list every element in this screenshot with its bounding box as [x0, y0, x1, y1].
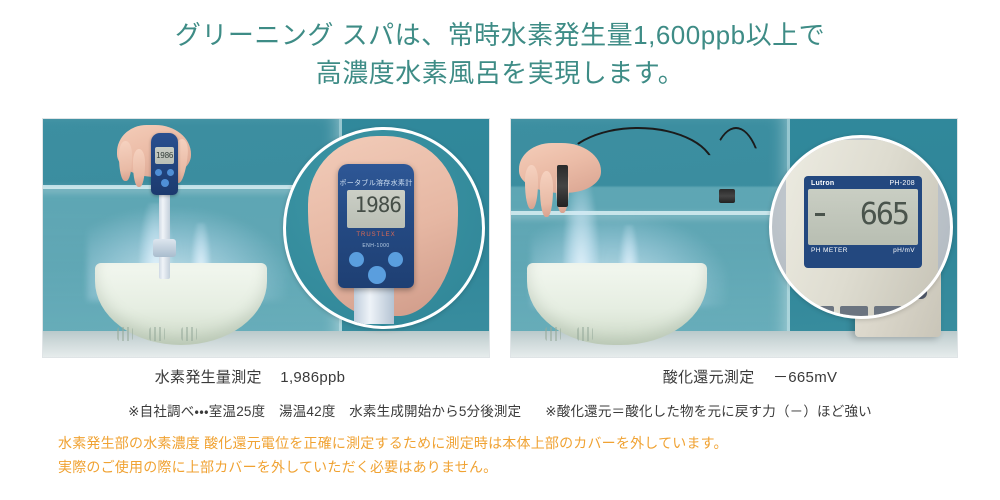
- warning-line-2: 実際のご使用の際に上部カバーを外していただく必要はありません。: [58, 456, 958, 478]
- page-headline: グリーニング スパは、常時水素発生量1,600ppb以上で 高濃度水素風呂を実現…: [0, 16, 1000, 92]
- footnote-2: ※酸化還元＝酸化した物を元に戻す力（－）ほど強い: [545, 404, 872, 419]
- meter-button-right[interactable]: [167, 169, 174, 176]
- footnotes: ※自社調べ・・・室温25度 湯温42度 水素生成開始から5分後測定 ※酸化還元＝…: [0, 400, 1000, 420]
- generator-vent-center: [149, 327, 165, 341]
- inset-ph-case: Lutron PH-208 665 PH METER pH/mV: [786, 140, 938, 316]
- inset-ph-model: PH-208: [889, 180, 915, 187]
- warning-line-1: 水素発生部の水素濃度 酸化還元電位を正確に測定するために測定時は本体上部のカバー…: [58, 432, 958, 454]
- generator-vent-left: [545, 327, 561, 341]
- inset-probe-shaft: [354, 282, 394, 324]
- probe-shaft: [159, 193, 170, 279]
- caption-orp: 酸化還元測定 －665mV: [500, 366, 1000, 387]
- finger-2: [133, 149, 145, 187]
- inset-meter-brand: TRUSTLEX: [338, 232, 414, 238]
- finger-1: [119, 141, 132, 181]
- meter-button-left[interactable]: [155, 169, 162, 176]
- inset-meter-button-left[interactable]: [349, 252, 364, 267]
- photo-panels: 1986 ポータブル溶存水素計 1986 TRUSTLEX ENH-1000: [42, 118, 958, 358]
- inset-meter-reading: 1986: [347, 195, 401, 216]
- inset-meter-button-right[interactable]: [388, 252, 403, 267]
- finger-1: [525, 165, 538, 209]
- inset-ph-screen: Lutron PH-208 665 PH METER pH/mV: [804, 176, 922, 268]
- inset-meter-lcd: 1986: [347, 190, 405, 228]
- inset-ph-screen-header: Lutron PH-208: [808, 180, 918, 189]
- generator-vent-center: [577, 327, 593, 341]
- generator-vent-right: [181, 327, 197, 341]
- caption-hydrogen-label: 水素発生量測定: [155, 369, 262, 386]
- meter-lcd-small: 1986: [155, 147, 174, 164]
- finger-2: [540, 171, 553, 217]
- inset-ph-lcd: 665: [808, 189, 918, 245]
- footnote-1: ※自社調べ・・・室温25度 湯温42度 水素生成開始から5分後測定: [128, 404, 521, 419]
- meter-button-power[interactable]: [161, 179, 169, 187]
- inset-meter-body: ポータブル溶存水素計 1986 TRUSTLEX ENH-1000: [338, 164, 414, 288]
- inset-meter-button-power[interactable]: [368, 266, 386, 284]
- inset-ph-key-2[interactable]: [840, 306, 868, 319]
- panel-orp-measurement: 665 Lutron PH-208: [510, 118, 958, 358]
- headline-line-2: 高濃度水素風呂を実現します。: [0, 54, 1000, 92]
- inset-ph-brand: Lutron: [811, 180, 834, 187]
- inset-ph-reading: 665: [808, 198, 908, 232]
- caption-hydrogen-value: 1,986ppb: [280, 369, 345, 386]
- panel-hydrogen-measurement: 1986 ポータブル溶存水素計 1986 TRUSTLEX ENH-1000: [42, 118, 490, 358]
- headline-line-1: グリーニング スパは、常時水素発生量1,600ppb以上で: [0, 16, 1000, 54]
- inset-ph-screen-footer: PH METER pH/mV: [808, 245, 918, 254]
- generator-vent-left: [117, 327, 133, 341]
- inset-meter-model: ENH-1000: [338, 243, 414, 249]
- inset-meter-label: ポータブル溶存水素計: [338, 178, 414, 188]
- dissolved-hydrogen-meter: 1986: [151, 133, 178, 195]
- inset-ph-footer-left: PH METER: [811, 247, 848, 254]
- inset-hydrogen-meter-closeup: ポータブル溶存水素計 1986 TRUSTLEX ENH-1000: [283, 127, 485, 329]
- inset-ph-meter-closeup: Lutron PH-208 665 PH METER pH/mV: [769, 135, 953, 319]
- inset-ph-footer-right: pH/mV: [893, 247, 915, 254]
- caption-orp-value: －665mV: [773, 369, 837, 386]
- caption-orp-label: 酸化還元測定: [663, 369, 755, 386]
- measurement-captions: 水素発生量測定 1,986ppb 酸化還元測定 －665mV: [0, 366, 1000, 387]
- counter-surface: [43, 331, 489, 357]
- electrode-probe: [557, 165, 568, 207]
- probe-sensor-tip: [153, 239, 176, 257]
- caption-hydrogen: 水素発生量測定 1,986ppb: [0, 366, 500, 387]
